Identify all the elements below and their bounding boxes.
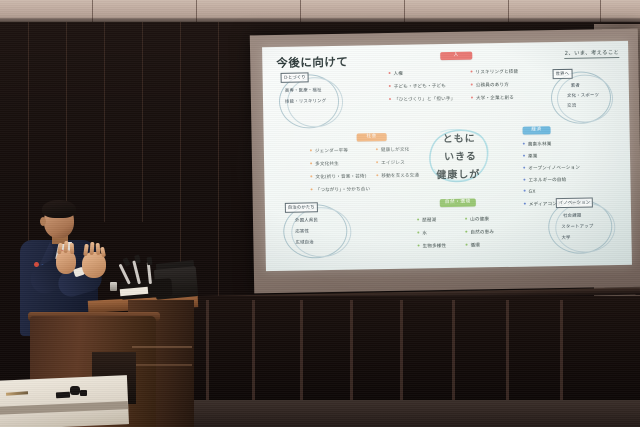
shakai-right-0-text: 健康しが文化: [381, 148, 410, 153]
keizai-item-0: 農畜水林業: [523, 141, 552, 148]
keizai-item-0-text: 農畜水林業: [528, 142, 552, 147]
keizai-item-2-text: オープンイノベーション: [528, 166, 580, 172]
slide-section-label: 2、いま、考えること: [565, 48, 620, 58]
badge-shakai: 社会: [357, 133, 387, 142]
hito-left-2-text: 「ひとづくり」と「担い手」: [394, 97, 455, 103]
podium-trim-2: [132, 364, 192, 366]
shakai-left-1: 多文化共生: [310, 161, 339, 168]
sizen-right-0-text: 山の健康: [470, 217, 489, 222]
innovation-item-2: 大学: [561, 235, 570, 241]
shakai-left-2: 文化(祈り・音楽・芸術): [310, 173, 366, 180]
shakai-left-0-text: ジェンダー平等: [315, 149, 348, 155]
stage-front: [180, 296, 640, 408]
shakai-right-1-text: エイジレス: [381, 161, 405, 166]
jichi-item-2: 広域自治: [295, 239, 313, 245]
sizen-right-1-text: 自然の恵み: [470, 230, 494, 235]
sizen-right-2: 循環: [466, 242, 481, 248]
table-object-3: [80, 390, 87, 396]
sizen-left-2-text: 生物多様性: [423, 244, 447, 249]
innovation-item-1: スタートアップ: [561, 223, 593, 230]
innovation-label: イノベーション: [556, 197, 594, 208]
shakai-left-1-text: 多文化共生: [315, 162, 339, 167]
center-line-1: ともに: [443, 129, 476, 145]
shakai-right-0: 健康しが文化: [376, 147, 410, 154]
hito-right-0: リスキリングと技能: [470, 69, 518, 76]
keizai-item-3: エネルギーの自給: [523, 177, 566, 184]
sizen-left-2: 生物多様性: [418, 243, 447, 250]
photo-scene: 今後に向けて 2、いま、考えること ひとづくり 高専・医療・福祉 技能・リスキリ…: [0, 0, 640, 427]
hito-left-2: 「ひとづくり」と「担い手」: [389, 96, 455, 103]
keizai-item-4-text: GX: [529, 190, 536, 195]
center-line-2: いきる: [444, 147, 477, 163]
hito-left-1: 子ども・子ども・子ども: [389, 83, 446, 90]
sekai-label: 世界へ: [553, 69, 573, 79]
hito-right-0-text: リスキリングと技能: [475, 70, 518, 76]
badge-hito: 人: [440, 52, 472, 61]
keizai-item-2: オープンイノベーション: [523, 165, 580, 172]
sizen-right-1: 自然の恵み: [465, 229, 494, 236]
keizai-item-3-text: エネルギーの自給: [528, 178, 566, 184]
jichi-item-1: 応答性: [295, 228, 309, 234]
shakai-left-0: ジェンダー平等: [310, 148, 348, 155]
shakai-right-2-text: 移動を支える交通: [381, 173, 419, 179]
jichi-item-0: 外国人県民: [295, 217, 318, 223]
projection-screen: 今後に向けて 2、いま、考えること ひとづくり 高専・医療・福祉 技能・リスキリ…: [262, 41, 632, 271]
shakai-left-3: 「つながり」・分かち合い: [311, 186, 371, 193]
sekai-item-0: 若者: [571, 83, 580, 89]
center-line-3: 健康しが: [436, 165, 480, 181]
hitozukuri-label: ひとづくり: [281, 72, 309, 82]
speaker-ear: [40, 217, 46, 226]
slide-title: 今後に向けて: [276, 54, 348, 71]
microphone-3-head: [147, 257, 153, 265]
sizen-left-1-text: 水: [422, 231, 427, 236]
sizen-left-0: 琵琶湖: [417, 217, 436, 223]
podium-trim-1: [132, 346, 192, 348]
shakai-left-2-text: 文化(祈り・音楽・芸術): [315, 174, 366, 180]
podium-cup: [110, 282, 117, 291]
hito-left-0: 人権: [389, 71, 404, 77]
keizai-item-1: 薬業: [523, 153, 538, 159]
jichi-label: 自治のかたち: [285, 202, 318, 213]
sizen-right-0: 山の健康: [465, 216, 489, 222]
innovation-item-0: 社会課題: [563, 213, 581, 219]
keizai-item-4: GX: [524, 189, 536, 195]
sizen-left-1: 水: [417, 230, 427, 236]
hito-right-1-text: 公務員のあり方: [476, 83, 509, 89]
shakai-right-1: エイジレス: [376, 160, 405, 167]
speaker-hair: [42, 200, 76, 218]
table-object-1: [56, 392, 70, 399]
hito-left-1-text: 子ども・子ども・子ども: [394, 84, 446, 90]
stage-floor: [150, 400, 640, 427]
badge-sizen: 自然・環境: [440, 199, 476, 208]
hito-right-2: 大学・企業と創る: [471, 95, 514, 102]
hito-right-1: 公務員のあり方: [471, 82, 509, 89]
shakai-left-3-text: 「つながり」・分かち合い: [316, 187, 371, 193]
sizen-right-2-text: 循環: [471, 243, 481, 248]
sekai-item-2: 交流: [567, 103, 576, 109]
sekai-item-1: 文化・スポーツ: [567, 92, 599, 99]
hito-right-2-text: 大学・企業と創る: [476, 96, 514, 102]
shakai-right-2: 移動を支える交通: [376, 172, 419, 179]
sizen-left-0-text: 琵琶湖: [422, 218, 436, 223]
badge-keizai: 経済: [522, 126, 550, 134]
keizai-item-1-text: 薬業: [528, 154, 538, 159]
hitozukuri-item-1: 技能・リスキリング: [285, 98, 326, 105]
hito-left-0-text: 人権: [394, 72, 404, 77]
hitozukuri-item-0: 高専・医療・福祉: [285, 87, 322, 94]
table-object-2: [70, 386, 80, 395]
